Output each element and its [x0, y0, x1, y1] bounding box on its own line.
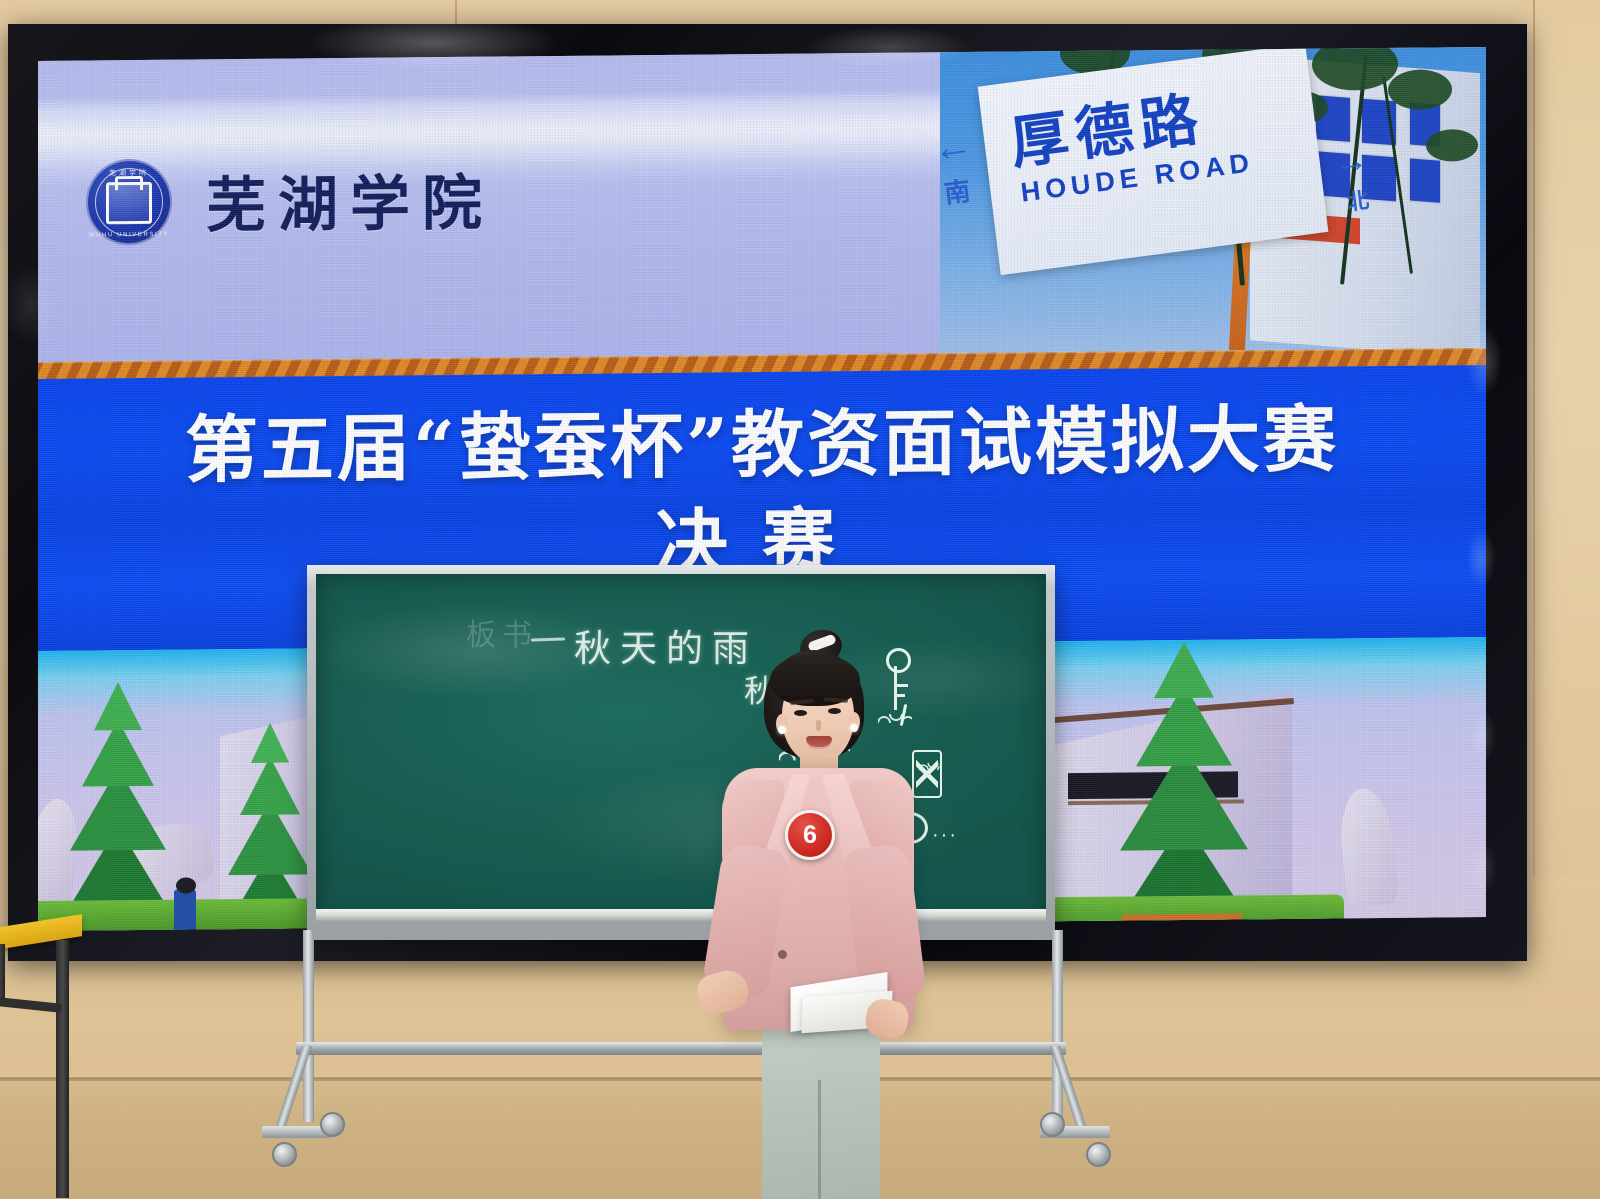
side-table-leg	[56, 940, 69, 1198]
contestant-number-badge: 6	[785, 810, 835, 860]
presenter-eye	[828, 708, 841, 714]
seal-top-text: 芜湖学院	[109, 167, 149, 177]
presenter-mouth	[806, 736, 832, 749]
chalk-tray	[316, 909, 1046, 922]
presenter-earring	[778, 726, 786, 734]
photo-pedestrian	[174, 889, 196, 931]
chalk-dash-mark	[531, 637, 565, 641]
side-table-leg	[0, 944, 5, 1004]
blackboard-caster-wheel	[1040, 1112, 1065, 1137]
road-sign-direction-north: 北	[1345, 182, 1371, 217]
campus-road-photo: 厚德路 HOUDE ROAD ← 南 → 北	[940, 47, 1486, 353]
university-seal-icon: 芜湖学院 WUHU UNIVERSITY	[86, 158, 172, 245]
presenter-trousers	[762, 1018, 880, 1199]
presenter-eye	[794, 710, 807, 716]
presenter-nose	[816, 720, 821, 731]
screenshot-stage: 厚德路 HOUDE ROAD ← 南 → 北 芜湖学院	[0, 0, 1600, 1199]
blackboard-stand-leg	[1052, 930, 1063, 1122]
photo-window	[1410, 158, 1440, 202]
road-sign-arrow-right-icon: →	[1332, 140, 1370, 183]
slide-header-band: 厚德路 HOUDE ROAD ← 南 → 北 芜湖学院	[38, 47, 1486, 362]
presenter-figure: 6	[690, 628, 936, 1199]
blackboard-stand-crossbar	[296, 1042, 1066, 1055]
erased-chalk-marks: 板书	[466, 610, 538, 654]
blazer-button	[778, 950, 787, 959]
university-branding: 芜湖学院 WUHU UNIVERSITY 芜湖学院	[86, 155, 494, 246]
road-sign-arrow-left-icon: ←	[940, 122, 975, 172]
trouser-seam	[818, 1080, 821, 1199]
road-sign-direction-south: 南	[942, 171, 972, 211]
photo-sculpture	[1336, 786, 1400, 909]
blackboard-caster-wheel	[320, 1112, 345, 1137]
blackboard-frame: 板书 秋天的雨 秋 ···	[307, 565, 1055, 940]
seal-bottom-text: WUHU UNIVERSITY	[89, 231, 169, 238]
blackboard-surface: 板书 秋天的雨 秋 ···	[316, 574, 1046, 922]
blackboard-caster-wheel	[1086, 1142, 1111, 1167]
blackboard-caster-wheel	[272, 1142, 297, 1167]
blackboard-stand-leg	[303, 930, 314, 1122]
seal-emblem-icon	[106, 182, 152, 224]
university-name: 芜湖学院	[206, 155, 494, 245]
photo-bench	[1122, 913, 1242, 923]
presenter-earring	[850, 724, 858, 732]
